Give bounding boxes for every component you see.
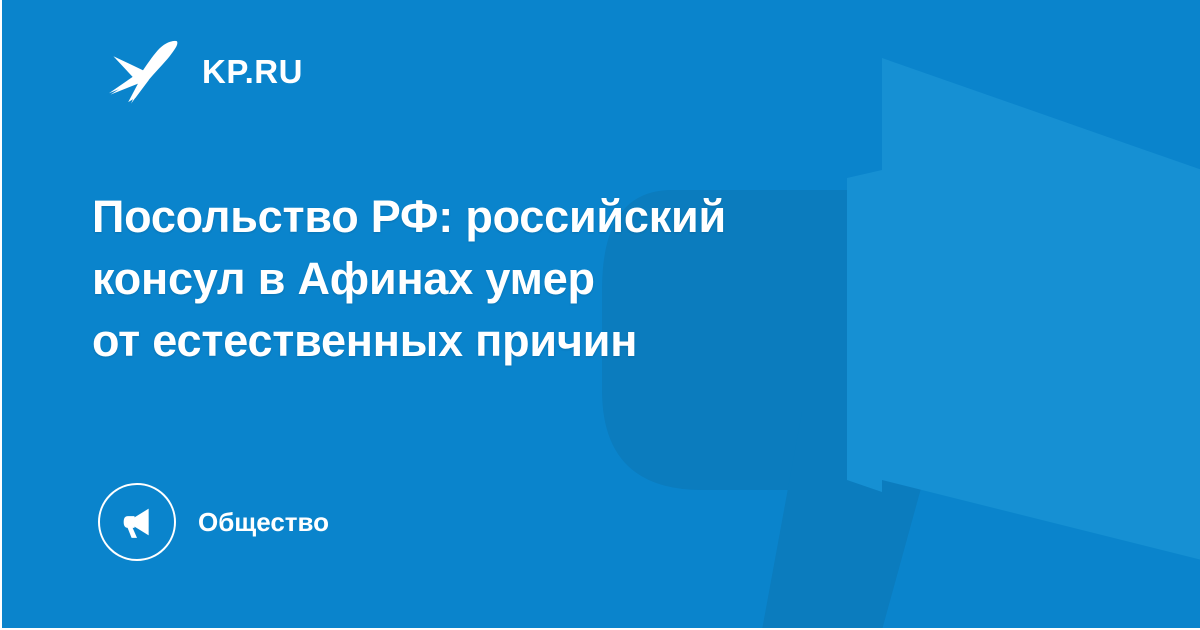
category-label: Общество — [198, 509, 329, 535]
headline-line-2: консул в Афинах умер — [92, 248, 952, 310]
headline-line-3: от естественных причин — [92, 310, 952, 372]
swallow-bird-icon — [106, 34, 180, 108]
category-icon-ring — [98, 483, 176, 561]
brand-header[interactable]: KP.RU — [106, 34, 303, 108]
brand-name: KP.RU — [202, 55, 303, 88]
megaphone-icon — [117, 502, 157, 542]
headline-line-1: Посольство РФ: российский — [92, 186, 952, 248]
news-share-card: KP.RU Посольство РФ: российский консул в… — [0, 0, 1200, 630]
category-badge[interactable]: Общество — [98, 483, 329, 561]
headline: Посольство РФ: российский консул в Афина… — [92, 186, 952, 372]
